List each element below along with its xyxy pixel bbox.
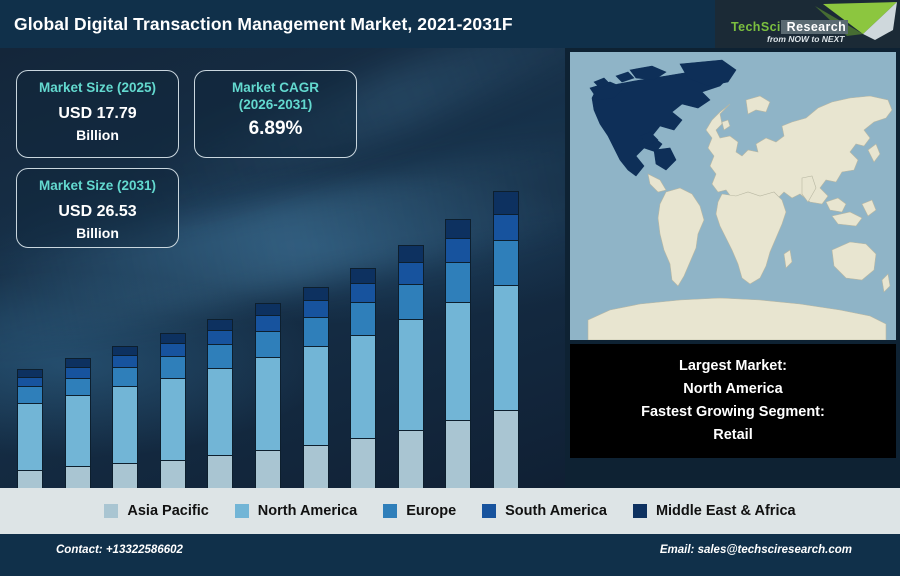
bar-segment-asia-pacific — [207, 455, 233, 488]
bar-segment-middle-east-africa — [398, 245, 424, 262]
bar-segment-europe — [350, 302, 376, 334]
bar-segment-north-america — [17, 403, 43, 470]
bar-segment-south-america — [65, 367, 91, 378]
bar-segment-asia-pacific — [303, 445, 329, 488]
bar-segment-north-america — [255, 357, 281, 450]
footer-contact: Contact: +13322586602 — [56, 544, 183, 556]
stat-card-market-cagr: Market CAGR (2026-2031) 6.89% — [194, 70, 357, 158]
bar-segment-north-america — [65, 395, 91, 466]
bar-segment-asia-pacific — [350, 438, 376, 488]
legend-label: Asia Pacific — [127, 503, 208, 519]
legend-swatch-icon — [633, 504, 647, 518]
bar-segment-south-america — [398, 262, 424, 284]
logo-research-text: Research — [781, 20, 848, 34]
bar-segment-south-america — [303, 300, 329, 317]
callout-line-4: Retail — [713, 424, 753, 447]
bar-segment-middle-east-africa — [65, 358, 91, 367]
bar-segment-middle-east-africa — [445, 219, 471, 238]
bar-segment-south-america — [160, 343, 186, 356]
legend-label: South America — [505, 503, 607, 519]
bar-segment-north-america — [160, 378, 186, 460]
bar-segment-north-america — [350, 335, 376, 439]
bar-segment-asia-pacific — [445, 420, 471, 488]
techsci-logo: TechSci Research from NOW to NEXT — [715, 0, 900, 48]
callout-line-2: North America — [683, 378, 782, 401]
legend-item-middle-east-africa[interactable]: Middle East & Africa — [633, 503, 796, 519]
bar-segment-north-america — [445, 302, 471, 420]
page-title: Global Digital Transaction Management Ma… — [14, 14, 513, 35]
legend-item-asia-pacific[interactable]: Asia Pacific — [104, 503, 208, 519]
logo-wordmark: TechSci Research — [731, 20, 848, 34]
bar-segment-europe — [17, 386, 43, 402]
bar-segment-asia-pacific — [65, 466, 91, 488]
bar-2031F — [493, 191, 519, 488]
bar-segment-europe — [112, 367, 138, 386]
bar-segment-asia-pacific — [255, 450, 281, 488]
callout-line-1: Largest Market: — [679, 355, 787, 378]
bar-segment-middle-east-africa — [255, 303, 281, 315]
bar-2023 — [112, 346, 138, 488]
bar-segment-europe — [303, 317, 329, 346]
legend-swatch-icon — [104, 504, 118, 518]
bar-segment-asia-pacific — [398, 430, 424, 488]
bar-segment-middle-east-africa — [303, 287, 329, 300]
bar-segment-europe — [445, 262, 471, 302]
callout-box: Largest Market: North America Fastest Gr… — [570, 344, 896, 458]
bar-segment-north-america — [493, 285, 519, 410]
bar-2030F — [445, 219, 471, 488]
world-map-svg — [570, 52, 896, 340]
bar-segment-north-america — [207, 368, 233, 455]
legend-swatch-icon — [482, 504, 496, 518]
bar-segment-asia-pacific — [160, 460, 186, 488]
bar-segment-middle-east-africa — [350, 268, 376, 283]
bar-2029F — [398, 245, 424, 488]
legend-swatch-icon — [383, 504, 397, 518]
bar-segment-europe — [160, 356, 186, 378]
bar-segment-middle-east-africa — [493, 191, 519, 214]
bar-segment-asia-pacific — [17, 470, 43, 488]
chart-legend: Asia PacificNorth AmericaEuropeSouth Ame… — [0, 488, 900, 534]
bar-segment-middle-east-africa — [17, 369, 43, 377]
footer-bar: Contact: +13322586602 Email: sales@techs… — [0, 534, 900, 576]
callout-line-3: Fastest Growing Segment: — [641, 401, 825, 424]
bar-segment-south-america — [112, 355, 138, 367]
stat-card-market-size-2031: Market Size (2031) USD 26.53 Billion — [16, 168, 179, 248]
bar-2024 — [160, 333, 186, 488]
bar-segment-europe — [207, 344, 233, 368]
bar-segment-europe — [255, 331, 281, 357]
bar-segment-south-america — [207, 330, 233, 344]
stat-unit: Billion — [17, 127, 178, 143]
bar-2026E — [255, 303, 281, 488]
stat-title-line1: Market CAGR — [195, 80, 356, 97]
stat-title: Market Size (2031) — [17, 178, 178, 195]
bar-segment-middle-east-africa — [112, 346, 138, 355]
logo-tagline: from NOW to NEXT — [767, 34, 844, 44]
bar-segment-europe — [398, 284, 424, 320]
bar-segment-asia-pacific — [112, 463, 138, 488]
stat-title: Market Size (2025) — [17, 80, 178, 97]
bar-segment-south-america — [445, 238, 471, 262]
legend-item-europe[interactable]: Europe — [383, 503, 456, 519]
bar-segment-south-america — [350, 283, 376, 302]
bar-segment-south-america — [17, 377, 43, 387]
bar-segment-middle-east-africa — [160, 333, 186, 343]
bar-segment-asia-pacific — [493, 410, 519, 488]
legend-label: Middle East & Africa — [656, 503, 796, 519]
stat-value: USD 26.53 — [17, 202, 178, 221]
bar-segment-north-america — [398, 319, 424, 429]
stat-unit: Billion — [17, 225, 178, 241]
legend-label: Europe — [406, 503, 456, 519]
world-map — [570, 52, 896, 340]
legend-swatch-icon — [235, 504, 249, 518]
legend-label: North America — [258, 503, 357, 519]
bar-2027F — [303, 287, 329, 488]
bar-segment-europe — [493, 240, 519, 285]
legend-item-south-america[interactable]: South America — [482, 503, 607, 519]
logo-tech-text: TechSci — [731, 20, 781, 34]
bar-2028F — [350, 268, 376, 488]
bar-segment-middle-east-africa — [207, 319, 233, 330]
bar-segment-europe — [65, 378, 91, 395]
bar-segment-north-america — [303, 346, 329, 444]
infographic-root: Global Digital Transaction Management Ma… — [0, 0, 900, 576]
bar-segment-north-america — [112, 386, 138, 463]
bar-2022 — [65, 358, 91, 488]
footer-email: Email: sales@techsciresearch.com — [660, 544, 852, 556]
legend-item-north-america[interactable]: North America — [235, 503, 357, 519]
stat-value: USD 17.79 — [17, 104, 178, 123]
bar-segment-south-america — [493, 214, 519, 240]
stat-card-market-size-2025: Market Size (2025) USD 17.79 Billion — [16, 70, 179, 158]
stat-value: 6.89% — [195, 118, 356, 141]
bar-2021 — [17, 369, 43, 488]
bar-2025 — [207, 319, 233, 488]
bar-segment-south-america — [255, 315, 281, 331]
stat-title-line2: (2026-2031) — [195, 97, 356, 114]
